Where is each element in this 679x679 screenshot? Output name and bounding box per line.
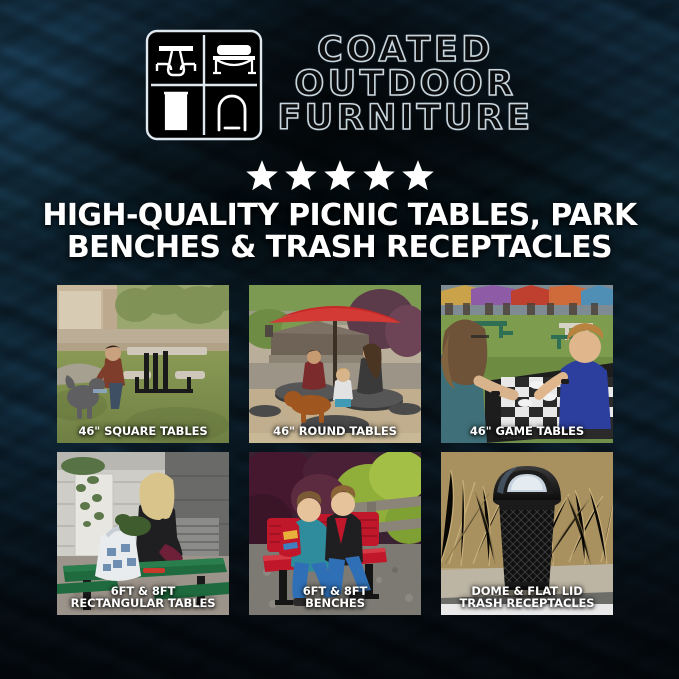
product-grid: 46" SQUARE TABLES [57,285,623,615]
brand-line-3: FURNITURE [277,102,533,136]
star-icon [324,160,356,191]
brand-line-2: OUTDOOR [294,68,516,102]
product-caption: 6FT & 8FT RECTANGULAR TABLES [57,585,229,610]
product-tile-trash-receptacles[interactable]: DOME & FLAT LID TRASH RECEPTACLES [441,452,613,615]
product-tile-square-tables[interactable]: 46" SQUARE TABLES [57,285,229,443]
product-caption-line-1: 46" GAME TABLES [444,425,610,438]
headline-line-2: BENCHES & TRASH RECEPTACLES [0,232,679,264]
product-photo-round-tables [249,285,421,443]
star-icon [402,160,434,191]
star-rating [0,160,679,191]
product-caption: 46" ROUND TABLES [249,425,421,438]
product-tile-round-tables[interactable]: 46" ROUND TABLES [249,285,421,443]
product-tile-rectangular-tables[interactable]: 6FT & 8FT RECTANGULAR TABLES [57,452,229,615]
product-photo-game-tables [441,285,613,443]
brand-line-1: COATED [317,34,494,68]
product-tile-game-tables[interactable]: 46" GAME TABLES [441,285,613,443]
advertisement-banner: COATED OUTDOOR FURNITURE HIGH-QUALITY PI… [0,0,679,679]
product-caption: 6FT & 8FT BENCHES [249,585,421,610]
product-tile-benches[interactable]: 6FT & 8FT BENCHES [249,452,421,615]
product-caption-line-2: RECTANGULAR TABLES [60,597,226,610]
star-icon [246,160,278,191]
star-icon [285,160,317,191]
brand-wordmark: COATED OUTDOOR FURNITURE [277,34,533,136]
product-caption: 46" GAME TABLES [441,425,613,438]
star-icon [363,160,395,191]
product-caption: 46" SQUARE TABLES [57,425,229,438]
product-caption-line-2: TRASH RECEPTACLES [444,597,610,610]
furniture-grid-logo-icon [145,29,263,141]
headline-line-1: HIGH-QUALITY PICNIC TABLES, PARK [42,198,636,233]
product-caption: DOME & FLAT LID TRASH RECEPTACLES [441,585,613,610]
product-photo-square-tables [57,285,229,443]
product-caption-line-1: 46" SQUARE TABLES [60,425,226,438]
product-caption-line-2: BENCHES [252,597,418,610]
product-caption-line-1: 46" ROUND TABLES [252,425,418,438]
page-title: HIGH-QUALITY PICNIC TABLES, PARK BENCHES… [0,200,679,265]
brand-logo: COATED OUTDOOR FURNITURE [0,26,679,144]
trash-receptacle-icon [164,93,188,129]
